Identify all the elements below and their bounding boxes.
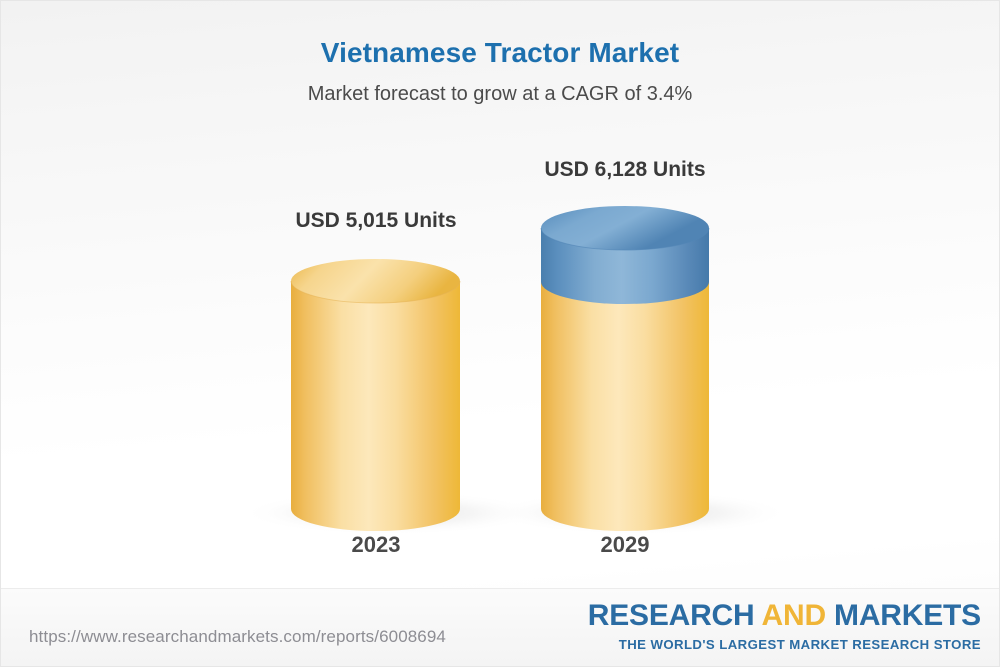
- category-label-2029: 2029: [465, 532, 785, 558]
- value-label-2023: USD 5,015 Units: [216, 209, 536, 233]
- report-url[interactable]: https://www.researchandmarkets.com/repor…: [29, 627, 446, 647]
- logo-tagline: THE WORLD'S LARGEST MARKET RESEARCH STOR…: [588, 637, 981, 652]
- researchandmarkets-logo[interactable]: RESEARCH AND MARKETS THE WORLD'S LARGEST…: [588, 601, 981, 652]
- logo-markets-text: MARKETS: [826, 599, 981, 632]
- chart-plot-area: USD 5,015 Units USD 6,128 Units 2023 202…: [1, 1, 1000, 601]
- cylinder-bars-svg: [1, 1, 1000, 601]
- value-label-2029: USD 6,128 Units: [465, 158, 785, 182]
- logo-and-text: AND: [762, 599, 826, 632]
- bar-2023-body: [291, 281, 460, 531]
- logo-research-text: RESEARCH: [588, 599, 762, 632]
- logo-wordmark: RESEARCH AND MARKETS: [588, 601, 981, 631]
- bar-2029-gold-segment: [541, 282, 709, 531]
- chart-card: Vietnamese Tractor Market Market forecas…: [0, 0, 1000, 667]
- chart-footer: https://www.researchandmarkets.com/repor…: [1, 588, 999, 666]
- bar-2023[interactable]: [291, 259, 460, 531]
- bar-2029[interactable]: [541, 206, 709, 531]
